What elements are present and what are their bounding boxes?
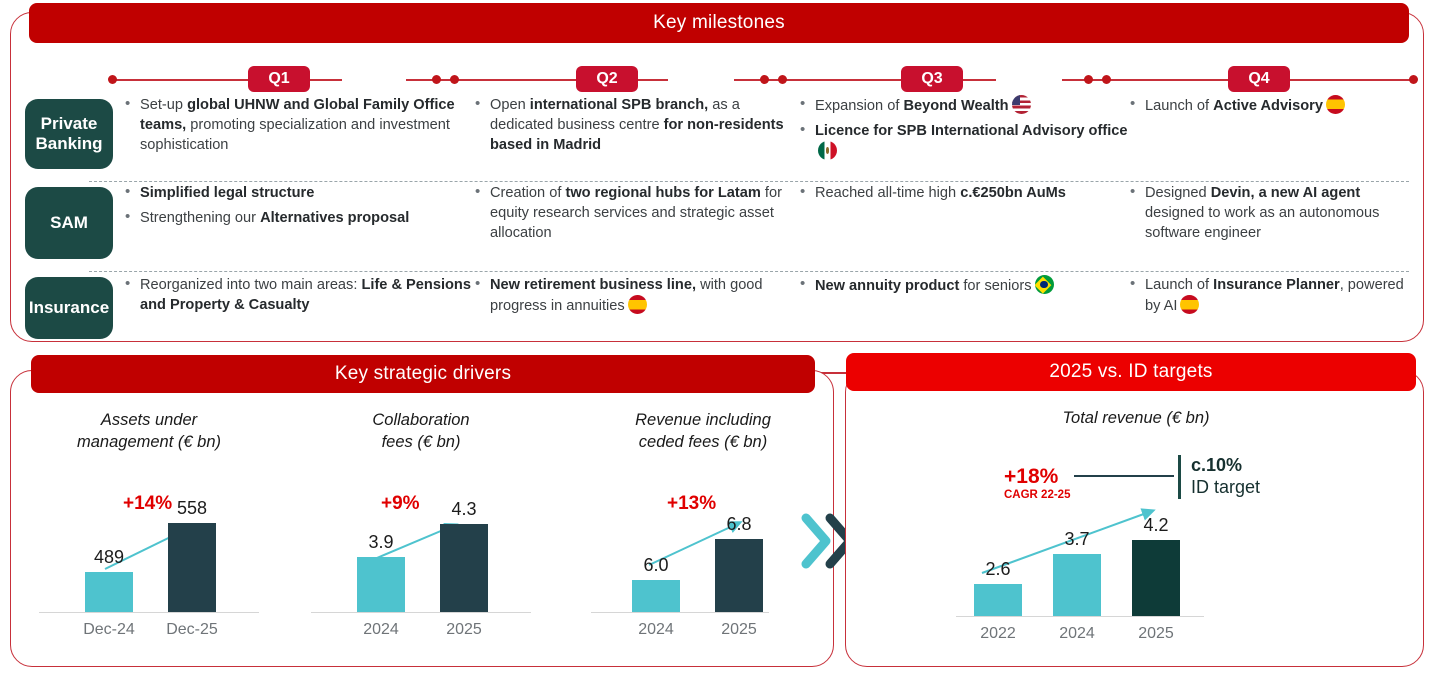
key-strategic-drivers-card: Key strategic drivers Assets under manag… bbox=[10, 370, 834, 667]
bar-value: 489 bbox=[94, 547, 124, 568]
chart-revenue: +13% 6.0 2024 6.8 2025 bbox=[591, 449, 816, 654]
key-milestones-banner: Key milestones bbox=[29, 3, 1409, 43]
row-label-line1: Private bbox=[41, 114, 98, 133]
chart-title-revenue: Revenue including ceded fees (€ bn) bbox=[583, 409, 823, 454]
bullet-item: Launch of Active Advisory bbox=[1128, 95, 1418, 116]
milestone-cell-pb-q3: Expansion of Beyond Wealth Licence for S… bbox=[798, 95, 1128, 167]
flag-us-icon bbox=[1012, 95, 1031, 114]
timeline-dot bbox=[1084, 75, 1093, 84]
bar-category: 2024 bbox=[363, 621, 399, 639]
bar-category: 2025 bbox=[446, 621, 482, 639]
bar-category: 2025 bbox=[721, 621, 757, 639]
flag-es-icon bbox=[1180, 295, 1199, 314]
row-divider bbox=[89, 271, 1409, 272]
bar-collaboration-1: 4.3 2025 bbox=[440, 524, 488, 612]
bar-value: 6.8 bbox=[726, 514, 751, 535]
chart-axis bbox=[39, 612, 259, 614]
bar-value: 4.3 bbox=[451, 499, 476, 520]
quarter-label: Q1 bbox=[268, 70, 289, 88]
bullet-item: New retirement business line, with good … bbox=[473, 275, 798, 316]
bullet-item: Licence for SPB International Advisory o… bbox=[798, 121, 1128, 162]
row-label-private-banking: PrivateBanking bbox=[25, 99, 113, 169]
milestone-columns: Set-up global UHNW and Global Family Off… bbox=[113, 95, 1418, 167]
bullet-item: Reorganized into two main areas: Life & … bbox=[123, 275, 473, 315]
key-milestones-title: Key milestones bbox=[653, 12, 785, 34]
bar-category: Dec-25 bbox=[166, 621, 218, 639]
bar-value: 2.6 bbox=[985, 559, 1010, 580]
row-label-insurance: Insurance bbox=[25, 277, 113, 339]
milestone-cell-sam-q1: Simplified legal structure Strengthening… bbox=[123, 183, 473, 248]
milestone-cell-pb-q2: Open international SPB branch, as a dedi… bbox=[473, 95, 798, 167]
milestone-cell-pb-q1: Set-up global UHNW and Global Family Off… bbox=[123, 95, 473, 167]
milestone-cell-sam-q2: Creation of two regional hubs for Latam … bbox=[473, 183, 798, 248]
quarter-chip-q4[interactable]: Q4 bbox=[1228, 66, 1290, 92]
milestone-cell-ins-q2: New retirement business line, with good … bbox=[473, 275, 798, 321]
bar-category: 2024 bbox=[1059, 625, 1095, 643]
leader-line bbox=[1074, 475, 1174, 477]
bullet-item: Set-up global UHNW and Global Family Off… bbox=[123, 95, 473, 155]
slide-root: Key milestones Q1 Q2 Q3 bbox=[0, 0, 1434, 679]
bar-value: 3.7 bbox=[1064, 529, 1089, 550]
row-label-line1: SAM bbox=[50, 213, 88, 233]
bar-value: 6.0 bbox=[643, 555, 668, 576]
milestone-cell-ins-q3: New annuity product for seniors bbox=[798, 275, 1128, 321]
bar-value: 4.2 bbox=[1143, 515, 1168, 536]
timeline-dot bbox=[1409, 75, 1418, 84]
milestone-row-private-banking: PrivateBanking Set-up global UHNW and Gl… bbox=[25, 95, 1411, 179]
row-label-line1: Insurance bbox=[29, 298, 109, 318]
row-label-sam: SAM bbox=[25, 187, 113, 259]
key-strategic-drivers-title: Key strategic drivers bbox=[335, 363, 511, 385]
id-target-value: c.10% bbox=[1191, 455, 1260, 477]
bullet-item: Designed Devin, a new AI agent designed … bbox=[1128, 183, 1418, 243]
bullet-item: New annuity product for seniors bbox=[798, 275, 1128, 296]
bar-collaboration-0: 3.9 2024 bbox=[357, 557, 405, 612]
milestone-columns: Simplified legal structure Strengthening… bbox=[113, 183, 1418, 248]
growth-label-aum: +14% bbox=[123, 493, 172, 515]
quarter-label: Q2 bbox=[596, 70, 617, 88]
chart-title-aum: Assets under management (€ bn) bbox=[39, 409, 259, 454]
milestone-cell-pb-q4: Launch of Active Advisory bbox=[1128, 95, 1418, 167]
flag-es-icon bbox=[1326, 95, 1345, 114]
chart-collaboration: +9% 3.9 2024 4.3 2025 bbox=[311, 449, 531, 654]
bar-revenue-0: 6.0 2024 bbox=[632, 580, 680, 612]
chart-total-revenue: +18% CAGR 22-25 c.10% ID target 2.6 2022… bbox=[956, 443, 1376, 658]
bullet-item: Strengthening our Alternatives proposal bbox=[123, 208, 473, 228]
milestone-cell-ins-q4: Launch of Insurance Planner, powered by … bbox=[1128, 275, 1418, 321]
flag-br-icon bbox=[1035, 275, 1054, 294]
bar-category: 2025 bbox=[1138, 625, 1174, 643]
timeline-dot bbox=[450, 75, 459, 84]
timeline-dot bbox=[432, 75, 441, 84]
milestone-columns: Reorganized into two main areas: Life & … bbox=[113, 275, 1418, 321]
growth-label-revenue: +13% bbox=[667, 493, 716, 515]
chart-aum: +14% 489 Dec-24 558 Dec-25 bbox=[39, 449, 259, 654]
quarter-timeline: Q1 Q2 Q3 Q4 bbox=[106, 66, 1418, 94]
growth-label-collaboration: +9% bbox=[381, 493, 420, 515]
bullet-item: Open international SPB branch, as a dedi… bbox=[473, 95, 798, 155]
quarter-label: Q4 bbox=[1248, 70, 1269, 88]
bar-category: Dec-24 bbox=[83, 621, 135, 639]
quarter-label: Q3 bbox=[921, 70, 942, 88]
milestone-cell-sam-q3: Reached all-time high c.€250bn AuMs bbox=[798, 183, 1128, 248]
milestone-cell-sam-q4: Designed Devin, a new AI agent designed … bbox=[1128, 183, 1418, 248]
quarter-chip-q1[interactable]: Q1 bbox=[248, 66, 310, 92]
id-target-annotation: c.10% ID target bbox=[1178, 455, 1260, 499]
id-target-label: ID target bbox=[1191, 477, 1260, 499]
bullet-item: Creation of two regional hubs for Latam … bbox=[473, 183, 798, 243]
growth-label-cagr: +18% bbox=[1004, 465, 1058, 489]
quarter-chip-q2[interactable]: Q2 bbox=[576, 66, 638, 92]
bar-total-revenue-2: 4.2 2025 bbox=[1132, 540, 1180, 616]
quarter-chip-q3[interactable]: Q3 bbox=[901, 66, 963, 92]
bar-aum-0: 489 Dec-24 bbox=[85, 572, 133, 612]
chart-title-total-revenue: Total revenue (€ bn) bbox=[956, 407, 1316, 429]
bar-aum-1: 558 Dec-25 bbox=[168, 523, 216, 612]
timeline-dot bbox=[760, 75, 769, 84]
flag-mx-icon bbox=[818, 141, 837, 160]
timeline-dot bbox=[1102, 75, 1111, 84]
bar-total-revenue-0: 2.6 2022 bbox=[974, 584, 1022, 616]
bullet-item: Simplified legal structure bbox=[123, 183, 473, 203]
flag-es-icon bbox=[628, 295, 647, 314]
bar-category: 2022 bbox=[980, 625, 1016, 643]
bullet-item: Expansion of Beyond Wealth bbox=[798, 95, 1128, 116]
timeline-dot bbox=[778, 75, 787, 84]
chart-axis bbox=[311, 612, 531, 614]
bar-total-revenue-1: 3.7 2024 bbox=[1053, 554, 1101, 616]
row-label-line2: Banking bbox=[35, 134, 102, 153]
milestone-cell-ins-q1: Reorganized into two main areas: Life & … bbox=[123, 275, 473, 321]
id-targets-card: 2025 vs. ID targets Total revenue (€ bn)… bbox=[845, 370, 1424, 667]
bullet-item: Launch of Insurance Planner, powered by … bbox=[1128, 275, 1418, 316]
row-divider bbox=[89, 181, 1409, 182]
id-targets-banner: 2025 vs. ID targets bbox=[846, 353, 1416, 391]
bar-value: 3.9 bbox=[368, 532, 393, 553]
key-milestones-card: Key milestones Q1 Q2 Q3 bbox=[10, 12, 1424, 342]
bar-category: 2024 bbox=[638, 621, 674, 639]
bar-value: 558 bbox=[177, 498, 207, 519]
timeline-dot bbox=[108, 75, 117, 84]
id-targets-title: 2025 vs. ID targets bbox=[1049, 361, 1212, 383]
bullet-item: Reached all-time high c.€250bn AuMs bbox=[798, 183, 1128, 203]
key-strategic-drivers-banner: Key strategic drivers bbox=[31, 355, 815, 393]
growth-sublabel-cagr: CAGR 22-25 bbox=[1004, 489, 1070, 501]
milestone-row-sam: SAM Simplified legal structure Strengthe… bbox=[25, 183, 1411, 271]
chart-title-collaboration: Collaboration fees (€ bn) bbox=[311, 409, 531, 454]
bar-revenue-1: 6.8 2025 bbox=[715, 539, 763, 612]
milestone-row-insurance: Insurance Reorganized into two main area… bbox=[25, 275, 1411, 343]
